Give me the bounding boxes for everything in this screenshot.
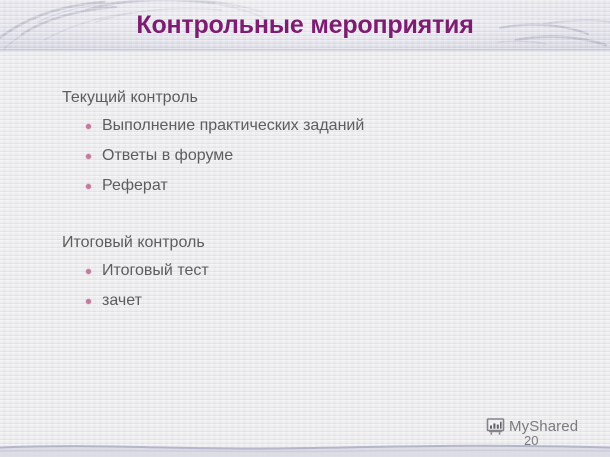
list-item-label: зачет [102,292,142,309]
list-item-label: Выполнение практических заданий [102,117,364,134]
slide-title: Контрольные мероприятия [0,11,610,40]
list-item-label: Реферат [102,177,168,194]
presentation-chart-icon [486,418,505,435]
content-group-final-control: Итоговый контроль Итоговый тест зачет [62,234,209,316]
bullet-dot-icon [86,154,91,159]
list-item: Выполнение практических заданий [62,111,364,141]
slide-header-band: Контрольные мероприятия [0,0,610,51]
bullet-dot-icon [86,184,91,189]
bullet-dot-icon [86,124,91,129]
slide-number: 20 [524,434,604,448]
bullet-dot-icon [86,299,91,304]
watermark-row: MyShared [486,418,604,435]
slide-content: Текущий контроль Выполнение практических… [0,51,610,457]
group-heading: Текущий контроль [62,89,364,107]
content-group-current-control: Текущий контроль Выполнение практических… [62,89,364,201]
bullet-list: Итоговый тест зачет [62,256,209,316]
list-item: зачет [62,286,209,316]
list-item-label: Ответы в форуме [102,147,233,164]
list-item: Ответы в форуме [62,141,364,171]
list-item: Итоговый тест [62,256,209,286]
list-item-label: Итоговый тест [102,262,209,279]
bullet-dot-icon [86,269,91,274]
watermark-brand-label: MyShared [509,418,578,435]
bullet-list: Выполнение практических заданий Ответы в… [62,111,364,201]
presentation-slide: Контрольные мероприятия Текущий контроль… [0,0,610,457]
watermark: MyShared 20 [486,418,604,448]
list-item: Реферат [62,171,364,201]
group-heading: Итоговый контроль [62,234,209,252]
